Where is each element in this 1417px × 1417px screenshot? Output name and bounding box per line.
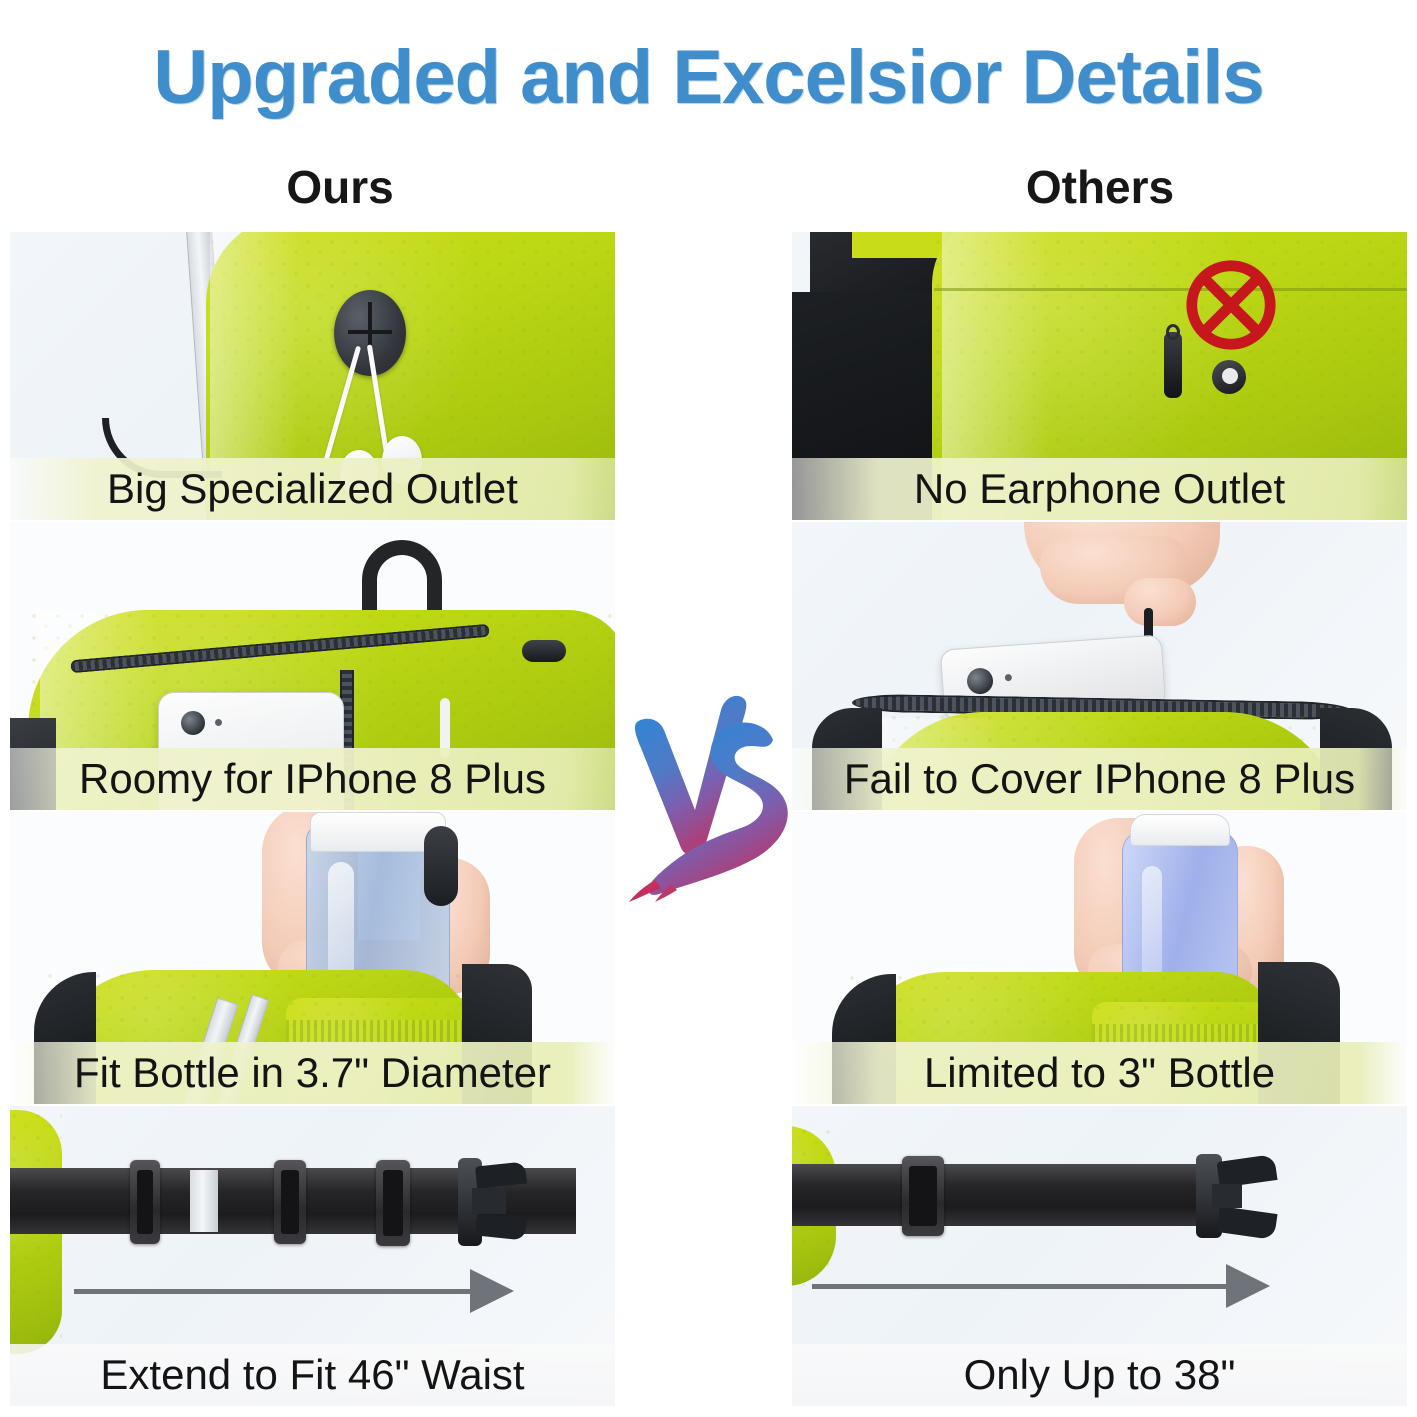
panel-others-phone-pocket: Fail to Cover IPhone 8 Plus	[792, 522, 1407, 810]
waist-belt-strap	[792, 1164, 1232, 1226]
panel-others-waist-belt: Only Up to 38"	[792, 1106, 1407, 1406]
vs-badge: VS	[625, 688, 805, 924]
prohibition-icon	[1182, 256, 1280, 354]
belt-slider	[902, 1156, 944, 1236]
panel-ours-waist-belt: Extend to Fit 46" Waist	[10, 1106, 615, 1406]
caption-others-waist-belt: Only Up to 38"	[792, 1344, 1407, 1406]
caption-ours-earphone-outlet: Big Specialized Outlet	[10, 458, 615, 520]
panel-others-earphone-outlet: No Earphone Outlet	[792, 232, 1407, 520]
comparison-infographic: Upgraded and Excelsior Details Ours Othe…	[0, 0, 1417, 1417]
panel-ours-phone-pocket: Roomy for IPhone 8 Plus	[10, 522, 615, 810]
caption-ours-bottle-pocket: Fit Bottle in 3.7" Diameter	[10, 1042, 615, 1104]
caption-others-phone-pocket: Fail to Cover IPhone 8 Plus	[792, 748, 1407, 810]
belt-slider	[274, 1160, 306, 1244]
caption-ours-waist-belt: Extend to Fit 46" Waist	[10, 1344, 615, 1406]
caption-others-earphone-outlet: No Earphone Outlet	[792, 458, 1407, 520]
caption-others-bottle-pocket: Limited to 3" Bottle	[792, 1042, 1407, 1104]
panel-ours-earphone-outlet: Big Specialized Outlet	[10, 232, 615, 520]
panel-ours-bottle-pocket: Fit Bottle in 3.7" Diameter	[10, 812, 615, 1104]
panel-others-bottle-pocket: Limited to 3" Bottle	[792, 812, 1407, 1104]
belt-slider	[130, 1160, 160, 1244]
caption-ours-phone-pocket: Roomy for IPhone 8 Plus	[10, 748, 615, 810]
belt-slider	[376, 1160, 410, 1246]
